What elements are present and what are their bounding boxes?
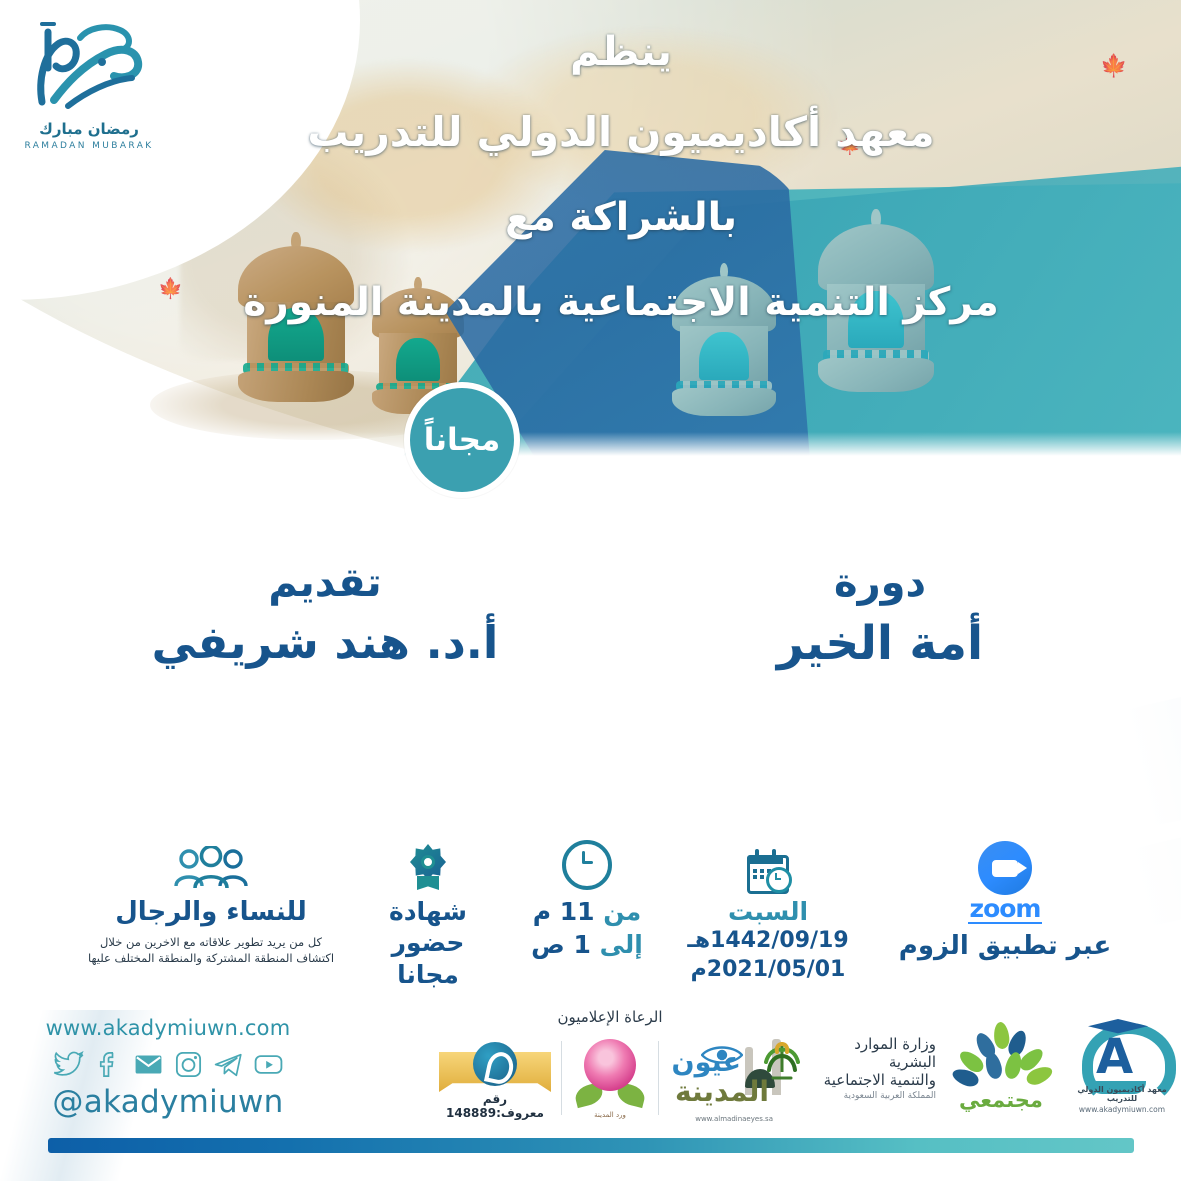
course-title-block: دورة أمة الخير <box>665 560 1095 672</box>
bottom-gradient-bar <box>48 1138 1134 1153</box>
info-audience: للنساء والرجال كل من يريد تطوير علاقاته … <box>86 838 336 967</box>
date-day: السبت <box>680 896 856 927</box>
youtube-icon[interactable] <box>253 1049 284 1080</box>
poster-canvas: 🍁 🍁 🍁 ينظم معهد أكاديميون الدولي للتدريب… <box>0 0 1181 1181</box>
date-gregorian: 2021/05/01م <box>680 956 856 985</box>
certificate-line-2: مجانا <box>352 959 504 990</box>
platform-caption: عبر تطبيق الزوم <box>880 930 1130 963</box>
presenter-name: أ.د. هند شريفي <box>110 616 540 670</box>
calendar-clock-icon <box>680 838 856 890</box>
marouf-registration: رقم معروف:148889 <box>435 1092 555 1120</box>
zoom-logo-word: zoom <box>968 896 1043 924</box>
sponsor-divider-1 <box>658 1041 659 1115</box>
header-line-institute: معهد أكاديميون الدولي للتدريب <box>121 110 1121 155</box>
akadymiuwn-url: www.akadymiuwn.com <box>1066 1105 1178 1114</box>
almadinaeyes-arabic-top: عيون <box>672 1047 741 1078</box>
certificate-line-1: شهادة حضور <box>352 896 504 959</box>
certificate-badge-icon <box>352 838 504 890</box>
facebook-icon[interactable] <box>93 1049 124 1080</box>
akadymiuwn-arabic: معهد أكاديميون الدولي للتدريب <box>1066 1085 1178 1103</box>
marouf-logo: رقم معروف:148889 <box>431 1030 559 1126</box>
zoom-icon: zoom <box>880 838 1130 924</box>
mojtamaai-word: مجتمعي <box>942 1088 1060 1112</box>
footer: www.akadymiuwn.com <box>0 1008 1181 1158</box>
ministry-line-3: المملكة العربية السعودية <box>809 1091 936 1101</box>
ward-almadinah-logo: ورد المدينة <box>564 1030 656 1126</box>
info-time: من 11 م إلى 1 ص <box>512 838 662 961</box>
info-row: zoom عبر تطبيق الزوم السبت 1442/09/19هـ <box>0 838 1181 1008</box>
people-icon <box>86 838 336 890</box>
sponsor-divider-2 <box>561 1041 562 1115</box>
course-label: دورة <box>665 560 1095 606</box>
twitter-icon[interactable] <box>53 1049 84 1080</box>
time-to: إلى 1 ص <box>512 929 662 960</box>
akadymiuwn-letter: A <box>1096 1033 1133 1081</box>
info-certificate: شهادة حضور مجانا <box>352 838 504 990</box>
time-to-label: إلى <box>600 930 643 959</box>
website-link[interactable]: www.akadymiuwn.com <box>18 1016 318 1040</box>
social-handle[interactable]: @akadymiuwn <box>18 1084 318 1120</box>
social-icons-row <box>18 1049 318 1080</box>
ministry-line-2: والتنمية الاجتماعية <box>809 1071 936 1089</box>
date-hijri: 1442/09/19هـ <box>680 927 856 956</box>
sponsors-row: عيون المدينة www.almadinaeyes.sa ورد الم… <box>400 1030 820 1126</box>
presenter-block: تقديم أ.د. هند شريفي <box>110 560 540 670</box>
akadymiuwn-institute-logo: A معهد أكاديميون الدولي للتدريب www.akad… <box>1066 1021 1178 1115</box>
time-to-value: 1 ص <box>531 930 591 959</box>
media-sponsors-block: الرعاة الإعلاميون عيون المدينة www.almad… <box>400 1008 820 1126</box>
time-from: من 11 م <box>512 896 662 927</box>
header-line-center: مركز التنمية الاجتماعية بالمدينة المنورة <box>121 282 1121 325</box>
ramadan-mubarak-logo: رمضان مبارك RAMADAN MUBARAK <box>14 10 164 170</box>
contact-block: www.akadymiuwn.com <box>18 1016 318 1120</box>
clock-icon <box>512 838 662 890</box>
sponsors-label: الرعاة الإعلاميون <box>400 1008 820 1026</box>
ward-almadinah-caption: ورد المدينة <box>579 1111 641 1119</box>
audience-title: للنساء والرجال <box>86 896 336 929</box>
course-name: أمة الخير <box>665 616 1095 672</box>
titles-section: دورة أمة الخير تقديم أ.د. هند شريفي <box>0 560 1181 720</box>
audience-description: كل من يريد تطوير علاقاته مع الاخرين من خ… <box>86 934 336 967</box>
logo-english-text: RAMADAN MUBARAK <box>14 141 164 151</box>
almadinaeyes-arabic-bottom: المدينة <box>675 1075 769 1108</box>
mojtamaai-logo: مجتمعي <box>942 1018 1060 1118</box>
telegram-icon[interactable] <box>213 1049 244 1080</box>
header-bottom-fade <box>0 432 1181 458</box>
info-date: السبت 1442/09/19هـ 2021/05/01م <box>680 838 856 984</box>
ministry-line-1: وزارة الموارد البشرية <box>809 1035 936 1072</box>
instagram-icon[interactable] <box>173 1049 204 1080</box>
presenter-label: تقديم <box>110 560 540 606</box>
ramadan-calligraphy-icon <box>14 10 164 118</box>
info-platform: zoom عبر تطبيق الزوم <box>880 838 1130 963</box>
time-from-label: من <box>603 897 641 926</box>
ministry-hrsd-logo: وزارة الموارد البشرية والتنمية الاجتماعي… <box>760 1018 936 1118</box>
email-icon[interactable] <box>133 1049 164 1080</box>
partners-block: A معهد أكاديميون الدولي للتدريب www.akad… <box>800 1012 1178 1124</box>
header-line-partnership: بالشراكة مع <box>121 197 1121 240</box>
palm-sword-icon <box>760 1038 804 1098</box>
free-badge: مجاناً <box>404 382 520 498</box>
header-text-group: ينظم معهد أكاديميون الدولي للتدريب بالشر… <box>121 14 1121 325</box>
partners-row: A معهد أكاديميون الدولي للتدريب www.akad… <box>800 1012 1178 1124</box>
header-line-organizes: ينظم <box>121 30 1121 74</box>
time-from-value: 11 م <box>533 897 595 926</box>
logo-arabic-text: رمضان مبارك <box>14 120 164 138</box>
